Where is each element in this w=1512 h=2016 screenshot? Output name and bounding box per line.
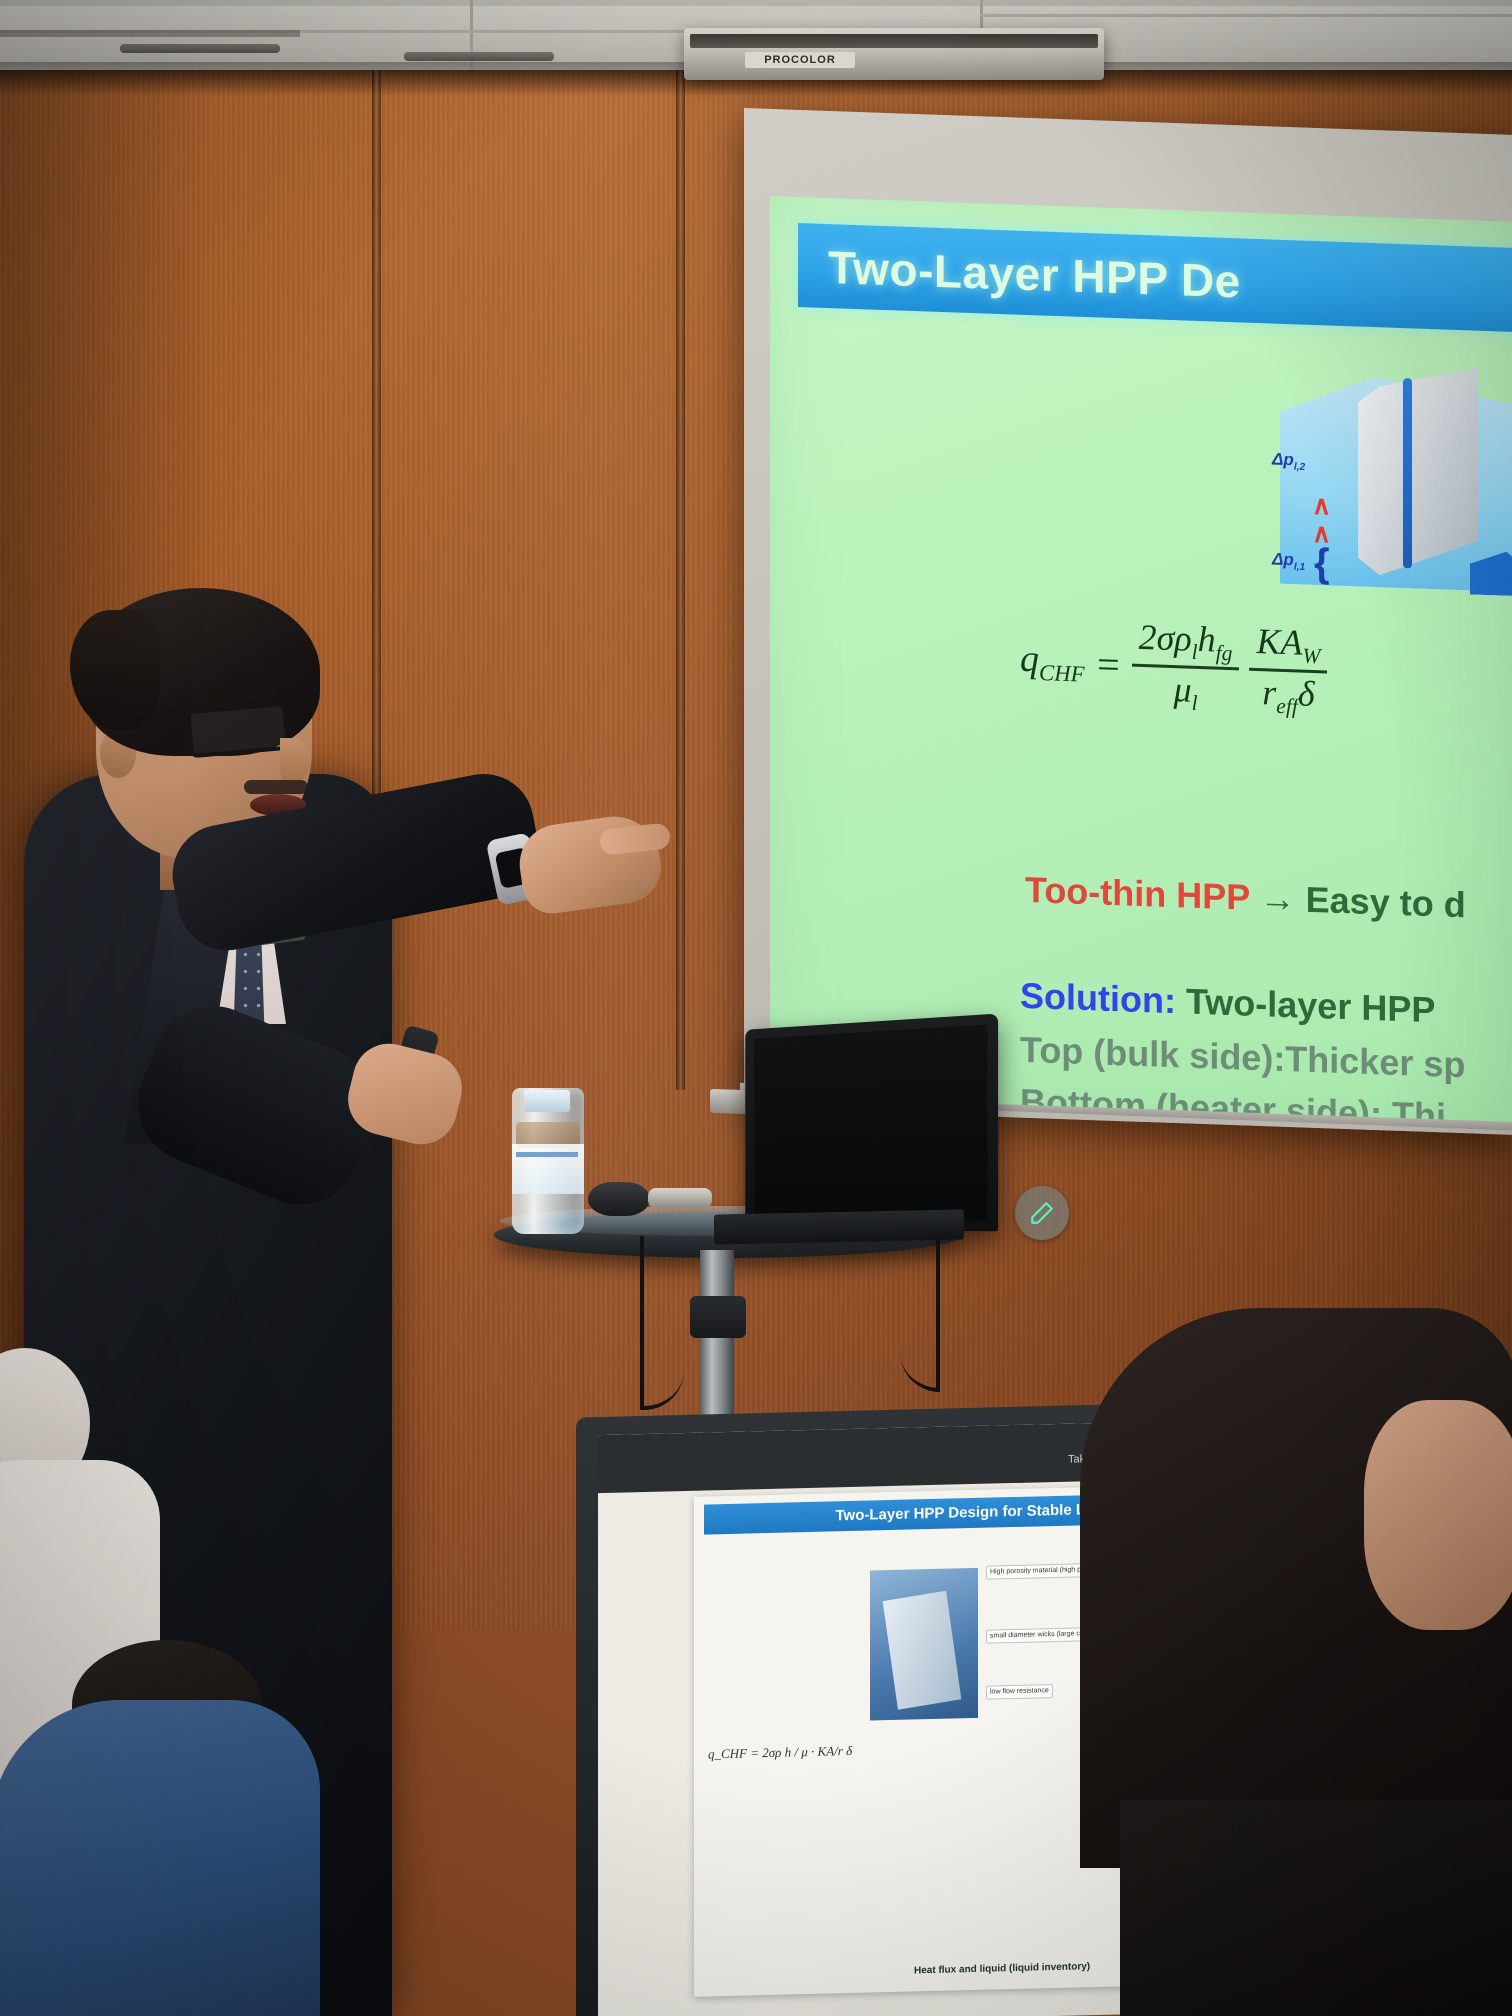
equation-lhs-subscript: CHF bbox=[1039, 660, 1085, 687]
presentation-photo-scene: PROCOLOR Two-Layer HPP De Δpl,2 ∧ ∧ Δpl,… bbox=[0, 0, 1512, 2016]
slide-line-0-lead: Too-thin HPP bbox=[1025, 869, 1250, 918]
projector-brand-label: PROCOLOR bbox=[745, 52, 855, 68]
f2d-b: δ bbox=[1298, 674, 1315, 715]
water-bottle-label-band bbox=[516, 1152, 578, 1157]
pen-icon-glyph bbox=[1029, 1200, 1055, 1226]
diagram-label-dp2: Δpl,2 bbox=[1272, 450, 1305, 474]
projected-slide: Two-Layer HPP De Δpl,2 ∧ ∧ Δpl,1 { qCHF … bbox=[770, 196, 1512, 1123]
slide-line-solution: Solution: Two-layer HPP bbox=[1020, 975, 1435, 1032]
equation-fraction-2-bar bbox=[1249, 668, 1327, 674]
cable-left bbox=[640, 1236, 684, 1410]
f2n-a: KA bbox=[1256, 621, 1302, 663]
wall-door-handle-1[interactable] bbox=[120, 44, 280, 53]
slide-line-1-lead: Solution: bbox=[1020, 975, 1176, 1021]
f1n-b: h bbox=[1198, 619, 1216, 660]
presenter-moustache bbox=[244, 780, 308, 794]
f2d-a: r bbox=[1262, 672, 1276, 712]
f1n-b-sub: fg bbox=[1216, 641, 1233, 666]
diagram-chevron-up-1: ∧ bbox=[1312, 495, 1331, 516]
slide-line-0-rest: → Easy to d bbox=[1250, 877, 1466, 926]
f1n-a: 2σρ bbox=[1139, 617, 1192, 659]
wall-door-handle-2[interactable] bbox=[404, 52, 554, 61]
dp2-symbol: Δp bbox=[1272, 450, 1294, 470]
equation-fraction-1-denominator: μl bbox=[1166, 671, 1204, 715]
cable-right bbox=[900, 1238, 940, 1392]
foreground-slide-bottom-text: Heat flux and liquid (liquid inventory) bbox=[914, 1961, 1090, 1976]
presenter-laptop[interactable] bbox=[745, 1014, 998, 1232]
equation-lhs: qCHF bbox=[1020, 637, 1085, 688]
wall-vent-strip bbox=[0, 30, 300, 37]
dp2-subscript: l,2 bbox=[1294, 462, 1305, 473]
f2n-a-sub: W bbox=[1302, 644, 1320, 669]
projection-screen-case-slot bbox=[690, 34, 1098, 48]
equation-fraction-1-numerator: 2σρlhfg bbox=[1132, 619, 1240, 665]
slide-title-bar: Two-Layer HPP De bbox=[798, 223, 1512, 334]
slide-line-too-thin: Too-thin HPP → Easy to d bbox=[1025, 869, 1466, 926]
audience-front-body bbox=[0, 1700, 320, 2016]
ceiling-seam-horizontal-2 bbox=[980, 14, 1512, 17]
computer-mouse[interactable] bbox=[588, 1182, 650, 1216]
equation-fraction-2: KAW reffδ bbox=[1249, 623, 1327, 719]
equation-fraction-2-numerator: KAW bbox=[1249, 623, 1327, 668]
presenter-nose bbox=[280, 738, 310, 780]
presenter-laptop-screen[interactable] bbox=[754, 1025, 987, 1221]
ceiling-rail bbox=[0, 0, 1512, 6]
slide-title: Two-Layer HPP De bbox=[828, 240, 1241, 308]
slide-equation: qCHF = 2σρlhfg μl KAW reffδ bbox=[1020, 615, 1327, 719]
f1d-a: μ bbox=[1173, 669, 1191, 710]
side-table-clamp bbox=[690, 1296, 746, 1338]
equation-fraction-1: 2σρlhfg μl bbox=[1132, 619, 1240, 716]
equation-equals: = bbox=[1095, 641, 1122, 689]
diagram-brace: { bbox=[1314, 541, 1330, 587]
foreground-slide-caption-3: low flow resistance bbox=[986, 1684, 1053, 1700]
presentation-clicker-on-table[interactable] bbox=[648, 1188, 712, 1208]
diagram-hpp-block bbox=[1358, 365, 1478, 579]
foreground-slide-equation: q_CHF = 2σρ h / μ · KA/r δ bbox=[708, 1743, 852, 1763]
audience-right-body bbox=[1120, 1800, 1512, 2016]
presenter-glasses-lens bbox=[186, 702, 290, 759]
f1d-a-sub: l bbox=[1192, 691, 1198, 715]
dp1-symbol: Δp bbox=[1272, 550, 1294, 570]
f2d-a-sub: eff bbox=[1276, 694, 1298, 719]
water-bottle-cap[interactable] bbox=[524, 1090, 570, 1112]
equation-fraction-2-denominator: reffδ bbox=[1255, 674, 1321, 719]
wall-panel-seam-2 bbox=[676, 70, 685, 1090]
equation-lhs-symbol: q bbox=[1020, 638, 1039, 681]
audience-right-face bbox=[1364, 1400, 1512, 1630]
slide-line-top-bulk: Top (bulk side):Thicker sp bbox=[1020, 1029, 1465, 1087]
diagram-liquid-channel bbox=[1403, 378, 1412, 568]
diagram-label-dp1: Δpl,1 bbox=[1272, 550, 1305, 574]
slide-line-1-rest: Two-layer HPP bbox=[1176, 980, 1435, 1030]
slide-diagram: Δpl,2 ∧ ∧ Δpl,1 { bbox=[1270, 353, 1512, 633]
dp1-subscript: l,1 bbox=[1294, 562, 1305, 573]
pen-icon[interactable] bbox=[1015, 1186, 1069, 1240]
